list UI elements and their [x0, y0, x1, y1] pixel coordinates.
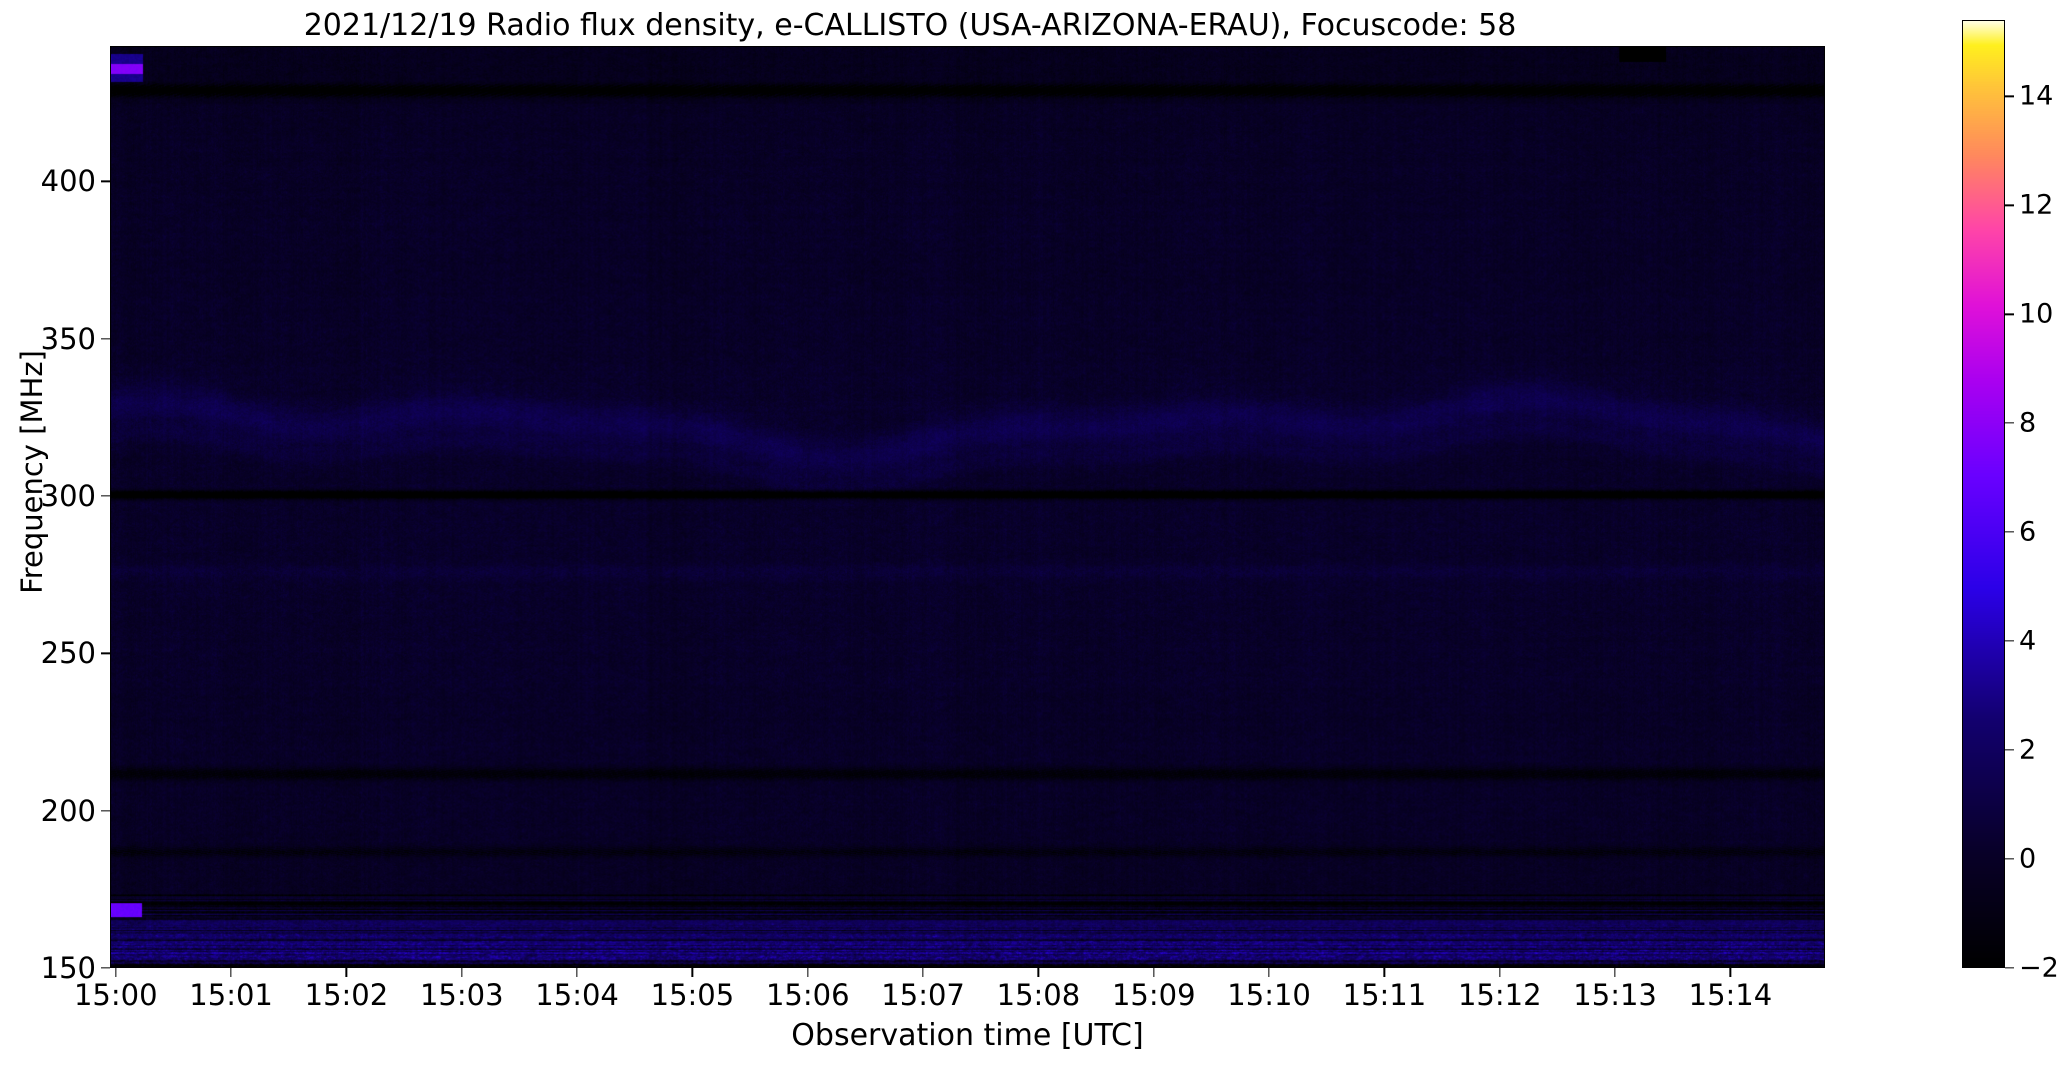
- colorbar-tick-label: 8: [2019, 408, 2036, 439]
- x-tick-label: 15:07: [881, 978, 965, 1012]
- spectrogram-plot-area: [110, 46, 1825, 968]
- colorbar-tick-label: 6: [2019, 517, 2036, 548]
- x-tick-label: 15:09: [1112, 978, 1196, 1012]
- x-tick-mark: [461, 968, 462, 977]
- x-tick-mark: [692, 968, 693, 977]
- x-tick-label: 15:10: [1227, 978, 1311, 1012]
- x-tick-label: 15:02: [305, 978, 389, 1012]
- colorbar-tick-mark: [2005, 749, 2014, 750]
- colorbar-tick-label: 14: [2019, 81, 2053, 112]
- x-tick-label: 15:08: [997, 978, 1081, 1012]
- x-tick-label: 15:03: [420, 978, 504, 1012]
- colorbar-tick-label: 4: [2019, 626, 2036, 657]
- y-tick-mark: [101, 967, 110, 968]
- figure-title: 2021/12/19 Radio flux density, e-CALLIST…: [0, 8, 1820, 43]
- x-tick-mark: [922, 968, 923, 977]
- x-axis-label: Observation time [UTC]: [110, 1018, 1825, 1053]
- y-tick-mark: [101, 810, 110, 811]
- colorbar-tick-mark: [2005, 314, 2014, 315]
- colorbar: [1962, 20, 2005, 968]
- x-tick-mark: [1614, 968, 1615, 977]
- x-tick-mark: [115, 968, 116, 977]
- x-tick-mark: [230, 968, 231, 977]
- y-axis-label: Frequency [MHz]: [15, 22, 49, 922]
- x-tick-label: 15:05: [651, 978, 735, 1012]
- x-tick-label: 15:06: [766, 978, 850, 1012]
- x-tick-mark: [807, 968, 808, 977]
- x-tick-label: 15:11: [1343, 978, 1427, 1012]
- colorbar-tick-mark: [2005, 967, 2014, 968]
- x-tick-mark: [1038, 968, 1039, 977]
- x-tick-mark: [1153, 968, 1154, 977]
- x-tick-mark: [1384, 968, 1385, 977]
- x-tick-label: 15:12: [1458, 978, 1542, 1012]
- colorbar-tick-mark: [2005, 96, 2014, 97]
- colorbar-tick-label: 10: [2019, 299, 2053, 330]
- colorbar-tick-mark: [2005, 640, 2014, 641]
- colorbar-tick-mark: [2005, 858, 2014, 859]
- colorbar-tick-label: 0: [2019, 844, 2036, 875]
- y-tick-mark: [101, 495, 110, 496]
- y-tick-mark: [101, 653, 110, 654]
- colorbar-tick-label: 2: [2019, 735, 2036, 766]
- x-tick-mark: [1730, 968, 1731, 977]
- y-tick-mark: [101, 338, 110, 339]
- colorbar-tick-label: 12: [2019, 190, 2053, 221]
- colorbar-tick-mark: [2005, 531, 2014, 532]
- x-tick-label: 15:01: [189, 978, 273, 1012]
- x-tick-mark: [576, 968, 577, 977]
- colorbar-tick-mark: [2005, 423, 2014, 424]
- x-tick-label: 15:04: [535, 978, 619, 1012]
- x-tick-mark: [346, 968, 347, 977]
- colorbar-gradient: [1963, 21, 2004, 967]
- colorbar-ticks: 14121086420−2: [2005, 20, 2065, 968]
- x-tick-label: 15:00: [74, 978, 158, 1012]
- colorbar-tick-mark: [2005, 205, 2014, 206]
- x-tick-mark: [1268, 968, 1269, 977]
- spectrogram-figure: 2021/12/19 Radio flux density, e-CALLIST…: [0, 0, 2066, 1067]
- colorbar-tick-label: −2: [2019, 953, 2059, 984]
- spectrogram-image: [111, 47, 1824, 967]
- x-tick-mark: [1499, 968, 1500, 977]
- x-tick-label: 15:14: [1689, 978, 1773, 1012]
- y-tick-mark: [101, 181, 110, 182]
- x-tick-label: 15:13: [1573, 978, 1657, 1012]
